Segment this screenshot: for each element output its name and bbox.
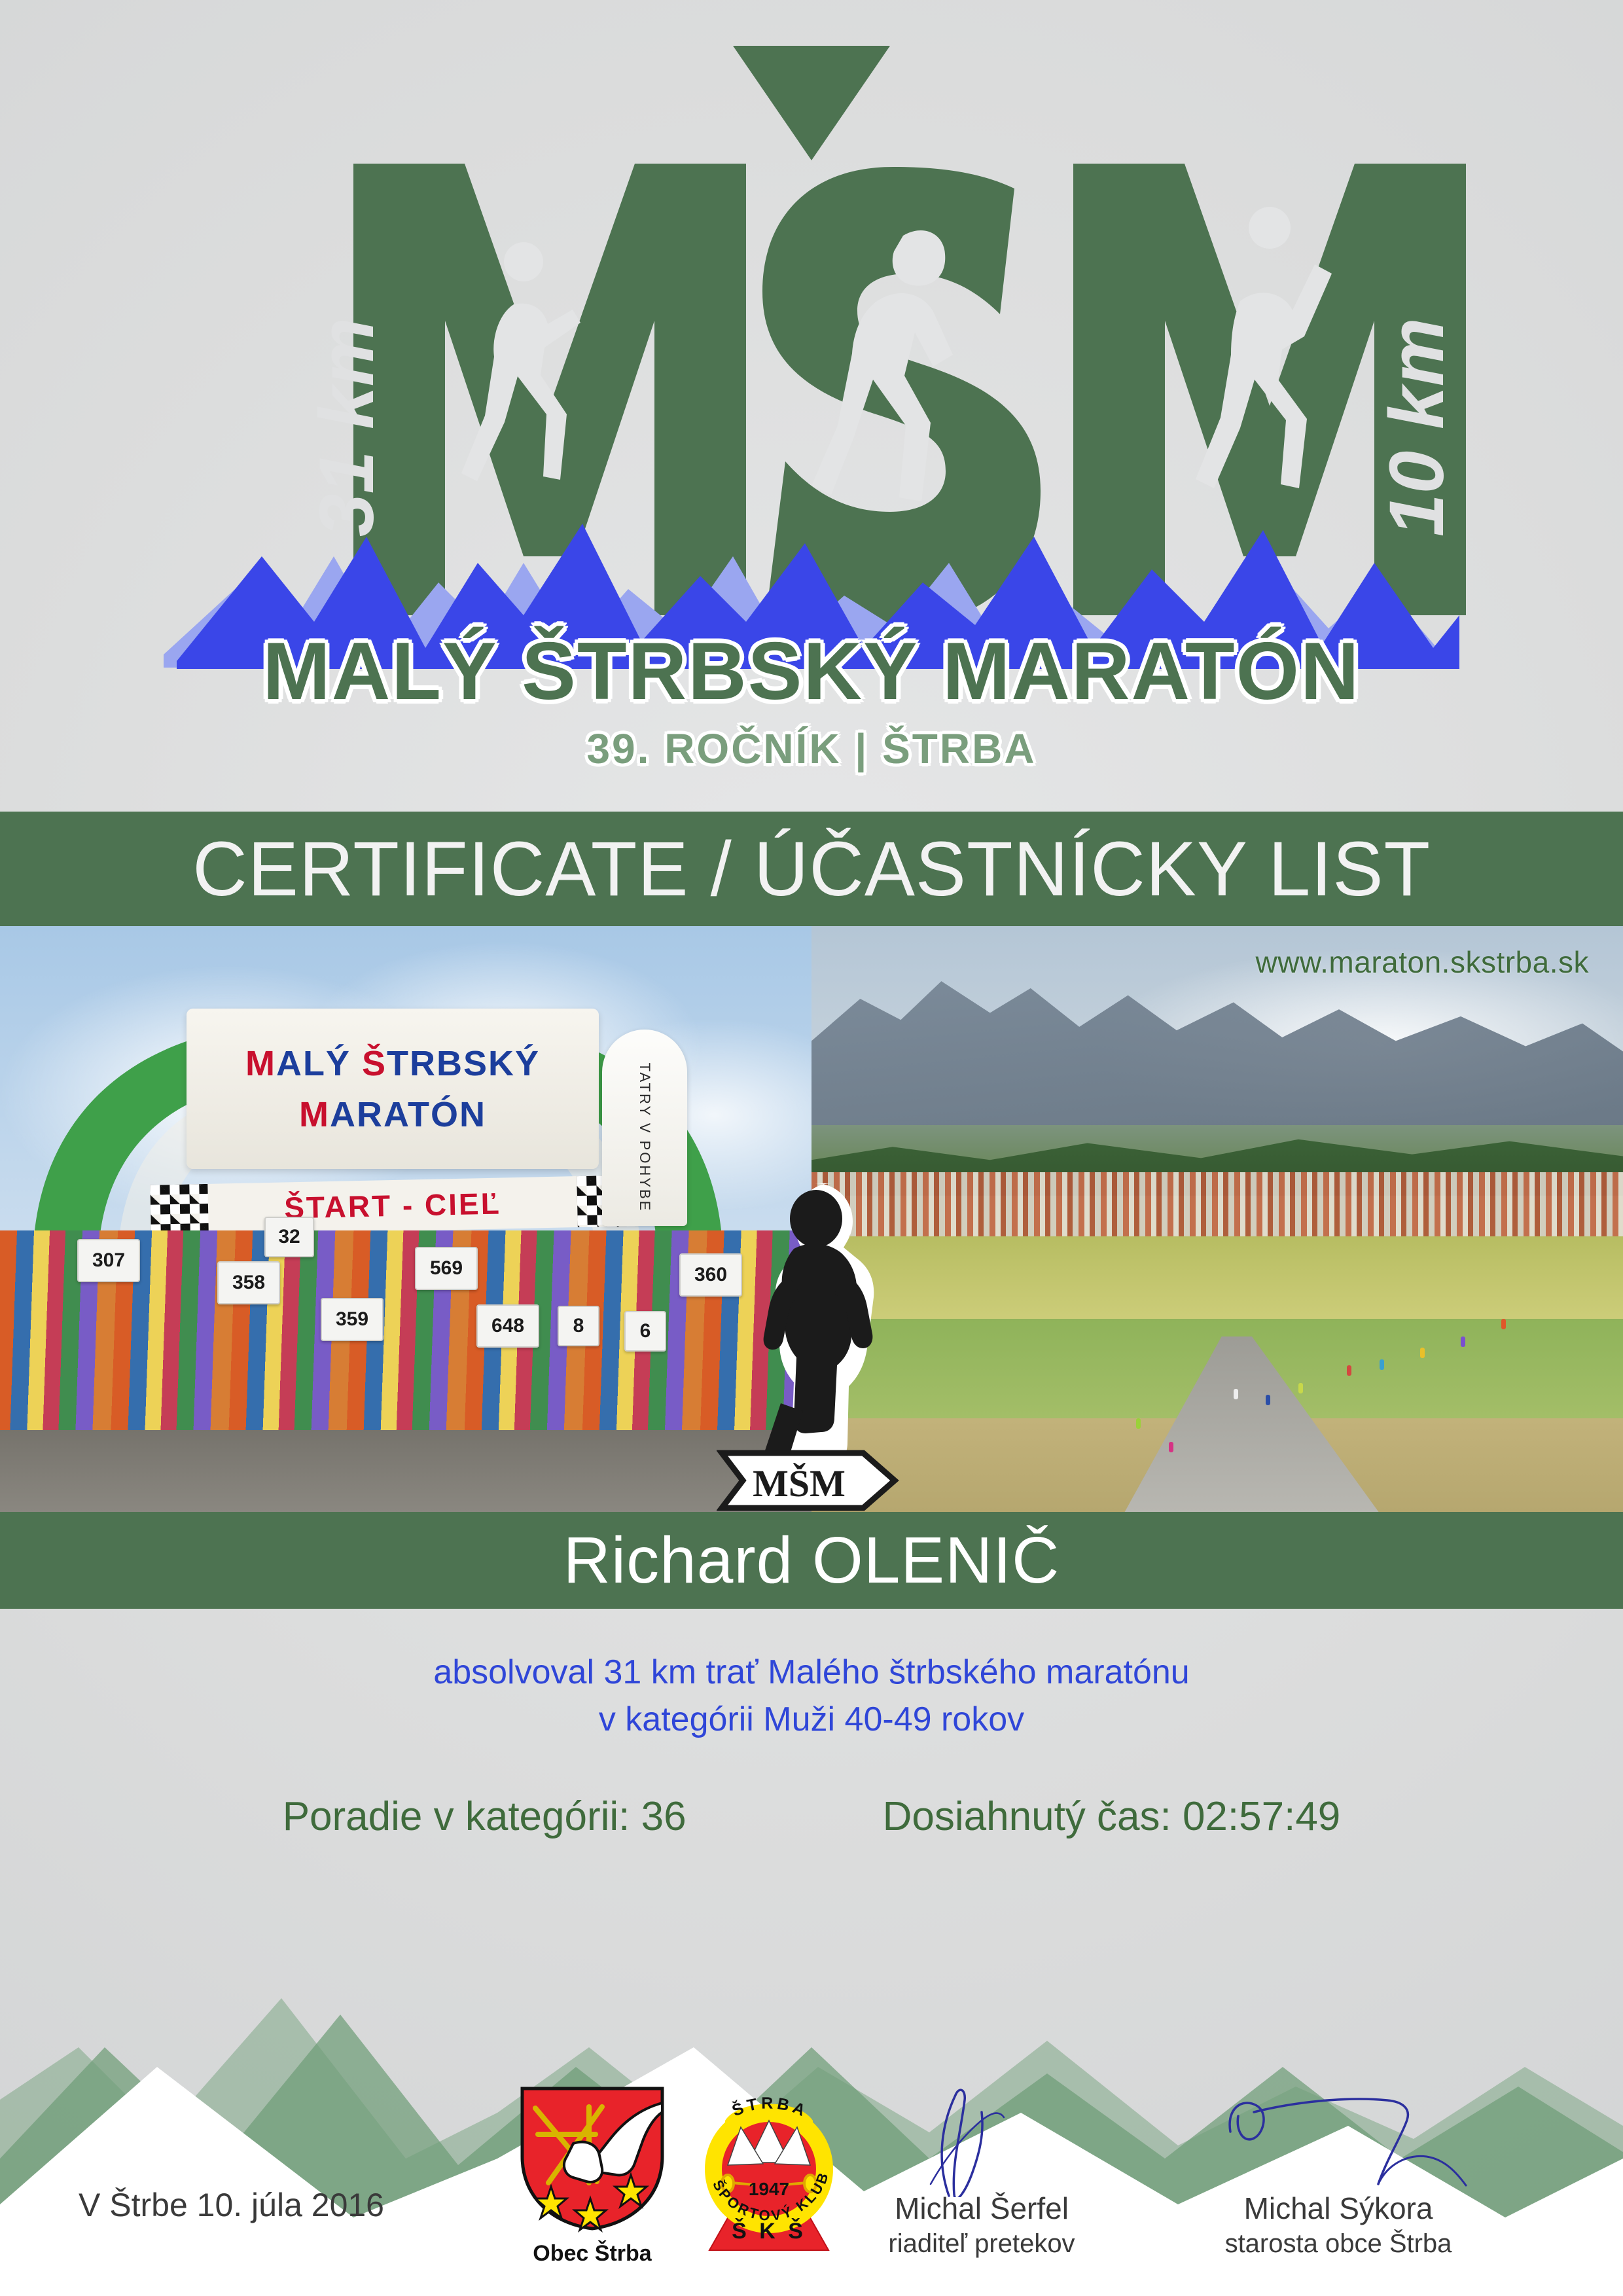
photo-strip: MALÝ ŠTRBSKÝ MARATÓN ŠTART - CIEĽ TATRY … xyxy=(0,926,1623,1512)
certificate-footer: V Štrbe 10. júla 2016 xyxy=(0,2060,1623,2296)
arch-finish-tape: ŠTART - CIEĽ xyxy=(150,1175,635,1236)
bib-number: 307 xyxy=(77,1239,140,1282)
bib-number: 359 xyxy=(321,1298,383,1341)
svg-text:10 km: 10 km xyxy=(1374,317,1460,537)
participant-name: Richard OLENIČ xyxy=(563,1523,1060,1598)
runner-figure xyxy=(1347,1365,1351,1376)
distance-left-label: 31 km xyxy=(304,317,390,537)
start-arch: MALÝ ŠTRBSKÝ MARATÓN ŠTART - CIEĽ TATRY … xyxy=(20,984,733,1272)
runner-figure xyxy=(1298,1383,1303,1393)
result-row: Poradie v kategórii: 36 Dosiahnutý čas: … xyxy=(0,1793,1623,1840)
arch-banner-line1: MALÝ ŠTRBSKÝ xyxy=(245,1043,540,1084)
issue-date: V Štrbe 10. júla 2016 xyxy=(79,2186,384,2224)
runner-figure xyxy=(1420,1348,1425,1358)
signature-role: starosta obce Štrba xyxy=(1191,2227,1486,2260)
svg-text:Š K Š: Š K Š xyxy=(732,2218,806,2244)
svg-text:MŠM: MŠM xyxy=(753,1462,846,1505)
event-logo-block: 31 km 10 km xyxy=(0,0,1623,795)
field-upper xyxy=(811,1236,1623,1330)
checker-pattern-left xyxy=(150,1184,209,1236)
sponsor-beach-flag: TATRY V POHYBE xyxy=(602,1030,687,1226)
certificate-page: 31 km 10 km xyxy=(0,0,1623,2296)
bib-number: 8 xyxy=(558,1306,599,1346)
arch-banner-line2: MARATÓN xyxy=(299,1094,486,1135)
bib-number: 32 xyxy=(264,1217,314,1257)
description-line-1: absolvoval 31 km trať Malého štrbského m… xyxy=(0,1649,1623,1696)
msm-runner-emblem: MŠM xyxy=(717,1178,913,1512)
runner-figure xyxy=(1380,1359,1384,1370)
distance-right-label: 10 km xyxy=(1374,317,1460,537)
handwritten-signature xyxy=(844,2086,1119,2197)
event-title: MALÝ ŠTRBSKÝ MARATÓN 39. ROČNÍK | ŠTRBA xyxy=(0,625,1623,773)
svg-text:31 km: 31 km xyxy=(304,317,390,537)
finish-time: Dosiahnutý čas: 02:57:49 xyxy=(883,1793,1341,1840)
description-line-2: v kategórii Muži 40-49 rokov xyxy=(0,1696,1623,1744)
achievement-description: absolvoval 31 km trať Malého štrbského m… xyxy=(0,1649,1623,1744)
village-strba xyxy=(811,1172,1623,1242)
runner-figure-icon xyxy=(763,1190,873,1471)
bib-number: 648 xyxy=(476,1304,539,1348)
obec-strba-caption: Obec Štrba xyxy=(510,2241,674,2267)
signature-block-mayor: Michal Sýkora starosta obce Štrba xyxy=(1191,2190,1486,2261)
sks-club-emblem: ŠTRBA ŠPORTOVÝ KLUB 1947 Š K Š xyxy=(694,2087,844,2260)
event-subtitle: 39. ROČNÍK | ŠTRBA xyxy=(0,725,1623,773)
runner-figure xyxy=(1266,1395,1270,1405)
event-website-url: www.maraton.skstrba.sk xyxy=(1256,944,1589,980)
runner-figure xyxy=(1169,1442,1173,1452)
signature-block-director: Michal Šerfel riaditeľ pretekov xyxy=(844,2190,1119,2261)
obec-strba-emblem: Obec Štrba xyxy=(510,2083,674,2267)
arch-tape-text: ŠTART - CIEĽ xyxy=(284,1186,502,1226)
msm-emblem-svg: MŠM xyxy=(717,1178,913,1512)
category-rank: Poradie v kategórii: 36 xyxy=(283,1793,687,1840)
msm-banner-icon: MŠM xyxy=(722,1453,895,1508)
runner-figure xyxy=(1461,1336,1465,1347)
road-surface xyxy=(0,1430,811,1512)
arch-banner: MALÝ ŠTRBSKÝ MARATÓN xyxy=(187,1009,599,1169)
svg-text:1947: 1947 xyxy=(749,2179,789,2199)
coat-of-arms-svg xyxy=(510,2083,674,2234)
caron-accent xyxy=(733,46,890,160)
bib-number: 358 xyxy=(217,1261,280,1304)
runner-figure xyxy=(1501,1319,1506,1329)
certificate-title-text: CERTIFICATE / ÚČASTNÍCKY LIST xyxy=(192,825,1431,914)
sponsor-flag-text: TATRY V POHYBE xyxy=(636,1063,653,1213)
bib-number: 6 xyxy=(624,1311,666,1352)
photo-course-landscape: www.maraton.skstrba.sk xyxy=(811,926,1623,1512)
photo-start-line: MALÝ ŠTRBSKÝ MARATÓN ŠTART - CIEĽ TATRY … xyxy=(0,926,811,1512)
runner-figure xyxy=(1234,1389,1238,1399)
bib-number: 569 xyxy=(415,1247,478,1290)
participant-name-band: Richard OLENIČ xyxy=(0,1512,1623,1609)
runner-figure xyxy=(1136,1418,1141,1429)
signature-role: riaditeľ pretekov xyxy=(844,2227,1119,2260)
certificate-title-band: CERTIFICATE / ÚČASTNÍCKY LIST xyxy=(0,812,1623,926)
handwritten-signature xyxy=(1191,2086,1486,2197)
sks-emblem-svg: ŠTRBA ŠPORTOVÝ KLUB 1947 Š K Š xyxy=(694,2087,844,2257)
